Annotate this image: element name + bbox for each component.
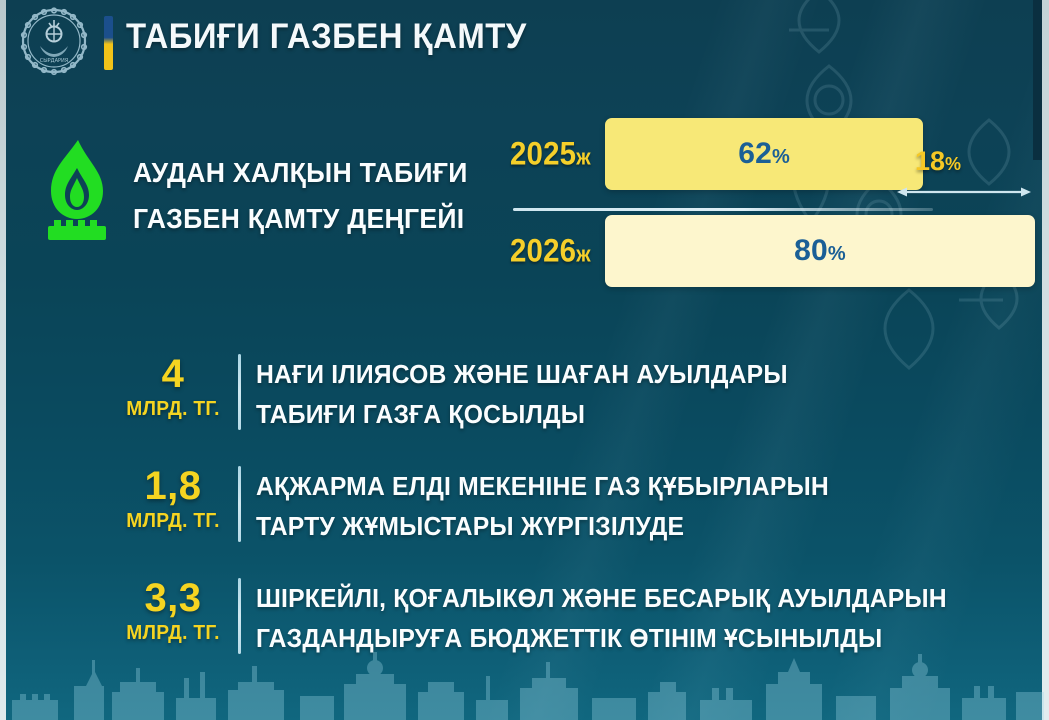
district-emblem-logo-icon: СЫРДАРИЯ <box>16 6 92 80</box>
delta-annotation: 18% <box>897 146 1037 206</box>
bar-category-label-2026: 2026ж <box>510 233 591 270</box>
coverage-label: АУДАН ХАЛҚЫН ТАБИҒИ ГАЗБЕН ҚАМТУ ДЕҢГЕЙІ <box>133 150 494 242</box>
chart-row-2026: 2026ж 80% <box>505 215 1035 287</box>
double-headed-arrow-icon <box>897 186 1031 198</box>
stat-number: 1,8 <box>116 464 230 508</box>
stat-amount: 1,8 МЛРД. ТГ. <box>116 464 230 534</box>
stat-description-line2: ГАЗДАНДЫРУҒА БЮДЖЕТТІК ӨТІНІМ ҰСЫНЫЛДЫ <box>256 618 959 658</box>
stat-description: ШІРКЕЙЛІ, ҚОҒАЛЫКӨЛ ЖӘНЕ БЕСАРЫҚ АУЫЛДАР… <box>256 578 959 658</box>
bar-fill-2026: 80% <box>605 215 1035 287</box>
bar-value-2025: 62% <box>738 137 790 171</box>
stat-divider <box>238 466 241 542</box>
stat-divider <box>238 354 241 430</box>
infographic-slide: СЫРДАРИЯ ТАБИҒИ ГАЗБЕН ҚАМТУ АУДАН ХАЛҚЫ… <box>0 0 1049 720</box>
stat-description: АҚЖАРМА ЕЛДІ МЕКЕНІНЕ ГАЗ ҚҰБЫРЛАРЫН ТАР… <box>256 466 959 546</box>
coverage-label-line2: ГАЗБЕН ҚАМТУ ДЕҢГЕЙІ <box>133 203 464 234</box>
bar-category-label-2025: 2025ж <box>510 136 591 173</box>
stat-description-line2: ТАРТУ ЖҰМЫСТАРЫ ЖҮРГІЗІЛУДЕ <box>256 506 959 546</box>
title-accent-bar <box>104 16 113 70</box>
stat-description-line2: ТАБИҒИ ГАЗҒА ҚОСЫЛДЫ <box>256 394 959 434</box>
page-title: ТАБИҒИ ГАЗБЕН ҚАМТУ <box>126 17 527 57</box>
list-item: 1,8 МЛРД. ТГ. АҚЖАРМА ЕЛДІ МЕКЕНІНЕ ГАЗ … <box>116 460 996 572</box>
gas-coverage-bar-chart: 2025ж 62% 2026ж 80% 18% <box>505 118 1035 290</box>
list-item: 3,3 МЛРД. ТГ. ШІРКЕЙЛІ, ҚОҒАЛЫКӨЛ ЖӘНЕ Б… <box>116 572 996 684</box>
stats-list: 4 МЛРД. ТГ. НАҒИ ІЛИЯСОВ ЖӘНЕ ШАҒАН АУЫЛ… <box>116 348 996 684</box>
stat-description: НАҒИ ІЛИЯСОВ ЖӘНЕ ШАҒАН АУЫЛДАРЫ ТАБИҒИ … <box>256 354 959 434</box>
stat-number: 3,3 <box>116 576 230 620</box>
stat-unit: МЛРД. ТГ. <box>118 620 227 646</box>
gas-flame-burner-icon <box>38 134 116 246</box>
stat-number: 4 <box>116 352 230 396</box>
chart-divider-line <box>513 208 933 211</box>
slide-header: СЫРДАРИЯ ТАБИҒИ ГАЗБЕН ҚАМТУ <box>0 0 1049 86</box>
stat-amount: 3,3 МЛРД. ТГ. <box>116 576 230 646</box>
bar-fill-2025: 62% <box>605 118 923 190</box>
bar-value-2026: 80% <box>794 234 846 268</box>
stat-description-line1: ШІРКЕЙЛІ, ҚОҒАЛЫКӨЛ ЖӘНЕ БЕСАРЫҚ АУЫЛДАР… <box>256 578 959 618</box>
list-item: 4 МЛРД. ТГ. НАҒИ ІЛИЯСОВ ЖӘНЕ ШАҒАН АУЫЛ… <box>116 348 996 460</box>
stat-amount: 4 МЛРД. ТГ. <box>116 352 230 422</box>
stat-divider <box>238 578 241 654</box>
stat-unit: МЛРД. ТГ. <box>118 396 227 422</box>
right-edge-strip <box>1042 0 1049 720</box>
svg-text:СЫРДАРИЯ: СЫРДАРИЯ <box>40 58 68 64</box>
left-edge-strip <box>0 0 6 720</box>
stat-description-line1: АҚЖАРМА ЕЛДІ МЕКЕНІНЕ ГАЗ ҚҰБЫРЛАРЫН <box>256 466 959 506</box>
stat-unit: МЛРД. ТГ. <box>118 508 227 534</box>
bar-track-2026: 80% <box>605 215 1035 287</box>
coverage-label-line1: АУДАН ХАЛҚЫН ТАБИҒИ <box>133 157 468 188</box>
delta-label: 18% <box>915 146 961 177</box>
stat-description-line1: НАҒИ ІЛИЯСОВ ЖӘНЕ ШАҒАН АУЫЛДАРЫ <box>256 354 959 394</box>
